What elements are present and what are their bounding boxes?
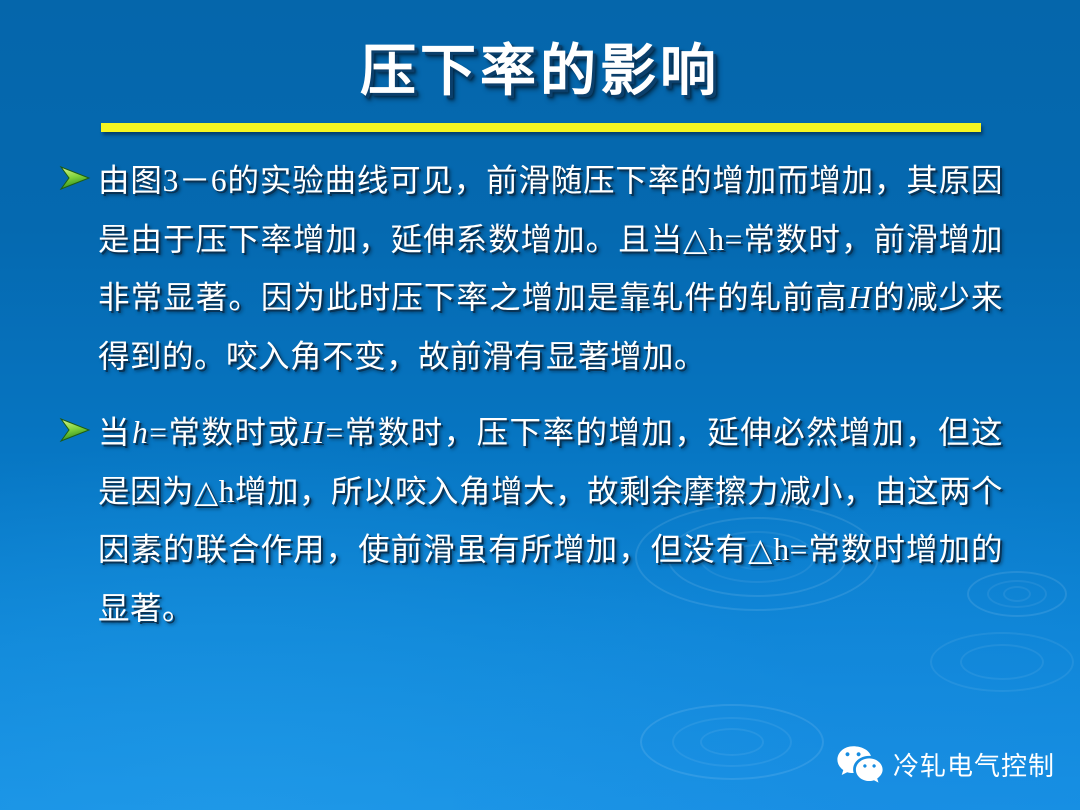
page-title: 压下率的影响 xyxy=(0,26,1080,107)
slide-canvas: 压下率的影响 由图3－6的实验曲线可见，前滑随压下率的增加而增加，其原因是由于压… xyxy=(0,0,1080,810)
bullet-paragraph: 由图3－6的实验曲线可见，前滑随压下率的增加而增加，其原因是由于压下率增加，延伸… xyxy=(0,152,1080,386)
paragraph-text: 当h=常数时或H=常数时，压下率的增加，延伸必然增加，但这是因为△h增加，所以咬… xyxy=(98,404,1003,638)
text-segment-latin: = xyxy=(149,415,167,450)
bullet-paragraph: 当h=常数时或H=常数时，压下率的增加，延伸必然增加，但这是因为△h增加，所以咬… xyxy=(0,404,1080,638)
text-segment-text: 常数时或 xyxy=(167,415,300,450)
text-segment-latin: = xyxy=(326,415,344,450)
text-segment-italic: H xyxy=(847,280,872,315)
text-segment-latin: △h= xyxy=(683,222,743,257)
ripple-ring xyxy=(672,717,792,767)
arrow-bullet-icon xyxy=(58,417,92,443)
slide-body: 由图3－6的实验曲线可见，前滑随压下率的增加而增加，其原因是由于压下率增加，延伸… xyxy=(0,152,1080,656)
ripple-ring xyxy=(700,728,764,756)
text-segment-text: 当 xyxy=(98,415,131,450)
text-segment-latin: △h= xyxy=(748,532,808,567)
title-divider xyxy=(101,123,981,132)
text-segment-latin: △h xyxy=(194,474,235,509)
text-segment-text: 由图 xyxy=(98,163,163,198)
wechat-icon xyxy=(836,744,884,784)
ripple-ring xyxy=(640,704,824,780)
text-segment-italic: H xyxy=(300,415,325,450)
text-segment-latin: 3－6 xyxy=(163,163,228,198)
wechat-watermark: 冷轧电气控制 xyxy=(836,744,1055,784)
wechat-account-name: 冷轧电气控制 xyxy=(893,746,1055,783)
arrow-bullet-icon xyxy=(58,165,92,191)
text-segment-italic: h xyxy=(131,415,149,450)
paragraph-text: 由图3－6的实验曲线可见，前滑随压下率的增加而增加，其原因是由于压下率增加，延伸… xyxy=(98,152,1003,386)
